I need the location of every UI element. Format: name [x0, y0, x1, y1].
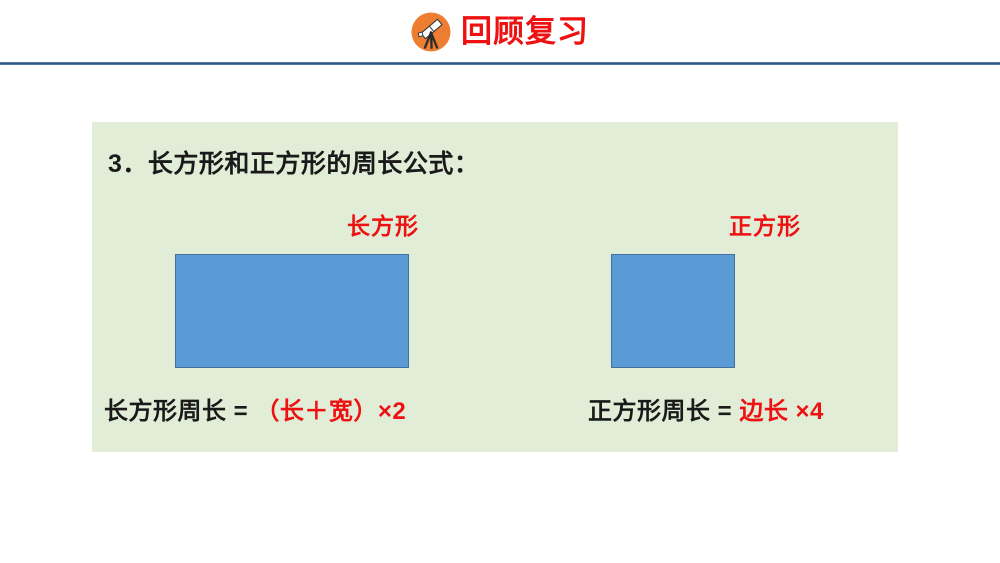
square-label: 正方形 — [655, 207, 875, 241]
square-perimeter-formula: 正方形周长 = 边长 ×4 — [588, 397, 824, 427]
header-divider — [0, 62, 1000, 65]
page-title: 回顾复习 — [461, 12, 589, 52]
square-formula-lead: 正方形周长 = — [588, 398, 739, 425]
square-formula-expression: 边长 ×4 — [739, 398, 824, 425]
rectangle-shape — [175, 254, 409, 368]
slide-header: 回顾复习 — [0, 0, 1000, 64]
rectangle-formula-lead: 长方形周长 = — [104, 398, 255, 425]
rectangle-label: 长方形 — [258, 207, 508, 241]
panel-heading: 3．长方形和正方形的周长公式： — [108, 144, 479, 180]
header-inner: 回顾复习 — [0, 8, 1000, 56]
telescope-icon — [411, 12, 451, 52]
content-panel: 3．长方形和正方形的周长公式： 长方形 正方形 长方形周长 = （长＋宽）×2 … — [92, 122, 898, 452]
square-shape — [611, 254, 735, 368]
rectangle-perimeter-formula: 长方形周长 = （长＋宽）×2 — [104, 397, 406, 427]
rectangle-formula-expression: （长＋宽）×2 — [255, 398, 406, 425]
